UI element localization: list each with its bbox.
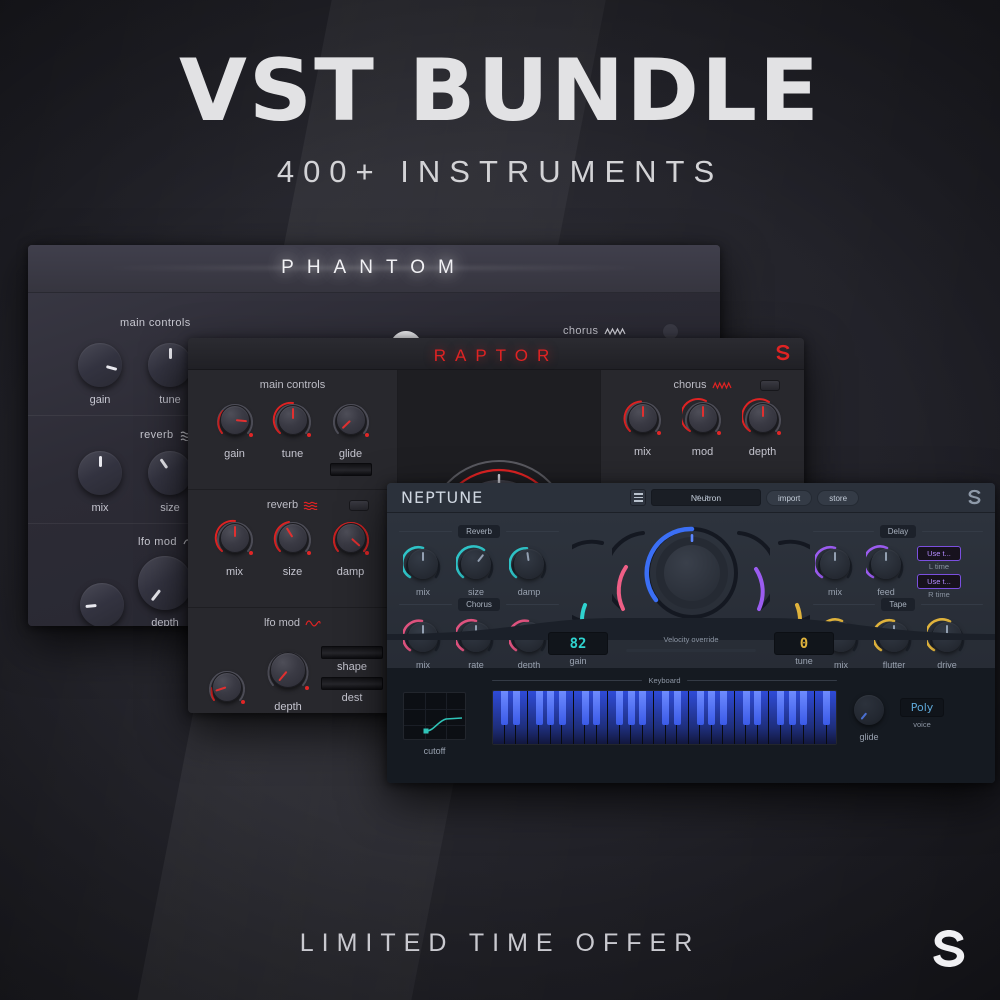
phantom-knob-label: tune (148, 394, 192, 406)
piano-black-key[interactable] (800, 691, 807, 725)
raptor-knob-glide[interactable]: glide (330, 399, 372, 476)
neptune-glide-label: glide (852, 732, 886, 742)
raptor-title: RAPTOR (188, 346, 804, 366)
neptune-velocity-title: Velocity override (626, 635, 756, 644)
piano-black-key[interactable] (789, 691, 796, 725)
raptor-left-column: main controls gain tun (188, 370, 398, 713)
piano-black-key[interactable] (754, 691, 761, 725)
plugin-window-neptune[interactable]: NEPTUNE Neutron < > import store Reverb (387, 483, 995, 783)
neptune-voice-selector[interactable]: Poly voice (900, 698, 944, 729)
raptor-knob-damp[interactable]: damp (330, 517, 372, 578)
piano-black-key[interactable] (559, 691, 566, 725)
neptune-header: NEPTUNE Neutron < > import store (387, 483, 995, 513)
raptor-knob-label: depth (742, 446, 784, 458)
raptor-knob-gain[interactable]: gain (214, 399, 256, 476)
raptor-knob-label: depth (264, 701, 312, 713)
neptune-body: Reverb mix (387, 513, 995, 783)
phantom-knob-label: depth (138, 617, 192, 626)
raptor-knob-size[interactable]: size (272, 517, 314, 578)
neptune-knob-label: size (456, 587, 496, 597)
neptune-cutoff-graph[interactable] (403, 692, 466, 740)
raptor-knob-tune[interactable]: tune (272, 399, 314, 476)
phantom-knob-gain[interactable]: gain (78, 343, 122, 406)
neptune-knob-glide[interactable]: glide (852, 693, 886, 742)
phantom-knob-mix[interactable]: mix (78, 451, 122, 514)
piano-black-key[interactable] (536, 691, 543, 725)
piano-black-key[interactable] (720, 691, 727, 725)
neptune-tag-delay: Delay (880, 525, 916, 538)
piano-black-key[interactable] (582, 691, 589, 725)
neptune-tag-tape: Tape (881, 598, 914, 611)
hamburger-icon[interactable] (630, 489, 646, 506)
zigzag-icon (712, 381, 732, 390)
store-button[interactable]: store (817, 490, 859, 506)
import-button[interactable]: import (766, 490, 812, 506)
raptor-header: RAPTOR (188, 338, 804, 370)
raptor-section-main: main controls gain tun (188, 370, 397, 490)
raptor-button-label: dest (321, 692, 383, 704)
raptor-section-label-main: main controls (188, 370, 397, 391)
neptune-keyboard[interactable] (492, 690, 837, 745)
phantom-knob-label: mix (78, 502, 122, 514)
page-subtitle: 400+ INSTRUMENTS (0, 154, 1000, 190)
s-brand-logo (926, 928, 972, 974)
piano-black-key[interactable] (639, 691, 646, 725)
neptune-title: NEPTUNE (401, 488, 483, 507)
neptune-section-delay: Delay mix (813, 525, 983, 599)
raptor-knob-label: glide (330, 448, 372, 460)
raptor-glide-display[interactable] (330, 463, 372, 476)
neptune-upper-panel: Reverb mix (387, 513, 995, 668)
neptune-velocity-gain-label: gain (548, 656, 608, 666)
neptune-velocity-tune-label: tune (774, 656, 834, 666)
neptune-knob-delay-feed[interactable]: feed (866, 544, 906, 599)
footer-offer-text: LIMITED TIME OFFER (0, 929, 1000, 958)
neptune-ltime-label: L time (917, 562, 961, 571)
neptune-knob-label: mix (403, 587, 443, 597)
phantom-knob-depth[interactable]: depth (138, 556, 192, 626)
raptor-section-label-chorus: chorus (673, 379, 706, 391)
neptune-knob-label: mix (815, 587, 855, 597)
neptune-tag-chorus: Chorus (458, 598, 500, 611)
neptune-knob-delay-mix[interactable]: mix (815, 544, 855, 599)
phantom-knob-rate[interactable]: rate (80, 583, 124, 626)
phantom-section-label-chorus: chorus (563, 325, 598, 337)
promo-headline: VST BUNDLE 400+ INSTRUMENTS (0, 48, 1000, 190)
neptune-knob-reverb-size[interactable]: size (456, 544, 496, 597)
piano-black-key[interactable] (501, 691, 508, 725)
neptune-keyboard-label: Keyboard (648, 676, 680, 685)
raptor-knob-chorus-mix[interactable]: mix (622, 397, 664, 458)
neptune-cutoff-label: cutoff (403, 746, 466, 756)
neptune-lower-panel: cutoff Keyboard glide Poly voice (387, 668, 995, 783)
raptor-knob-label: tune (272, 448, 314, 460)
neptune-rtime-button[interactable]: Use t... (917, 574, 961, 589)
s-brand-logo (774, 344, 792, 362)
phantom-knob-tune[interactable]: tune (148, 343, 192, 406)
preset-selector[interactable]: Neutron < > (651, 489, 761, 506)
neptune-preset-bar: Neutron < > import store (630, 489, 859, 506)
raptor-knob-label: damp (330, 566, 372, 578)
raptor-knob-label: gain (214, 448, 256, 460)
neptune-knob-reverb-mix[interactable]: mix (403, 544, 443, 597)
neptune-knob-label: feed (866, 587, 906, 597)
piano-black-key[interactable] (777, 691, 784, 725)
neptune-voice-value[interactable]: Poly (900, 698, 944, 717)
piano-black-key[interactable] (674, 691, 681, 725)
raptor-knob-chorus-mod[interactable]: mod (682, 397, 724, 458)
raptor-dest-selector[interactable] (321, 677, 383, 690)
piano-black-key[interactable] (697, 691, 704, 725)
s-brand-logo (966, 489, 983, 506)
piano-black-key[interactable] (616, 691, 623, 725)
piano-black-key[interactable] (513, 691, 520, 725)
neptune-ltime-button[interactable]: Use t... (917, 546, 961, 561)
raptor-knob-chorus-depth[interactable]: depth (742, 397, 784, 458)
waves-icon (303, 500, 318, 510)
phantom-knob-label: gain (78, 394, 122, 406)
piano-black-key[interactable] (547, 691, 554, 725)
raptor-section-lfo: lfo mod rate (188, 608, 397, 713)
sine-icon (305, 619, 321, 628)
piano-black-key[interactable] (593, 691, 600, 725)
phantom-title: PHANTOM (28, 257, 720, 279)
phantom-header: PHANTOM (28, 245, 720, 293)
raptor-knob-label: mod (682, 446, 724, 458)
piano-black-key[interactable] (823, 691, 830, 725)
neptune-section-reverb: Reverb mix (399, 525, 559, 597)
neptune-voice-label: voice (900, 720, 944, 729)
piano-black-key[interactable] (708, 691, 715, 725)
raptor-knob-label: mix (622, 446, 664, 458)
neptune-tag-reverb: Reverb (458, 525, 500, 538)
phantom-section-label-lfo: lfo mod (138, 536, 177, 548)
raptor-section-label-lfo: lfo mod (264, 617, 300, 629)
neptune-velocity-row: 82 gain Velocity override 0 tune (387, 632, 995, 668)
raptor-shape-selector[interactable] (321, 646, 383, 659)
piano-black-key[interactable] (662, 691, 669, 725)
prev-next-icon[interactable]: < > (652, 493, 754, 502)
raptor-section-label-reverb: reverb (267, 499, 298, 511)
raptor-knob-label: size (272, 566, 314, 578)
page-title: VST BUNDLE (0, 48, 1000, 134)
neptune-velocity-tune-value[interactable]: 0 (774, 632, 834, 655)
neptune-velocity-slider[interactable] (626, 649, 756, 652)
neptune-velocity-gain-value[interactable]: 82 (548, 632, 608, 655)
raptor-knob-mix[interactable]: mix (214, 517, 256, 578)
raptor-knob-depth[interactable]: depth (264, 646, 312, 713)
raptor-knob-label: mix (214, 566, 256, 578)
piano-black-key[interactable] (743, 691, 750, 725)
phantom-section-label-main: main controls (120, 317, 191, 329)
neptune-knob-label: damp (509, 587, 549, 597)
phantom-knob-label: size (148, 502, 192, 514)
raptor-section-chorus: chorus mix (601, 370, 804, 490)
raptor-section-reverb: reverb mix (188, 490, 397, 608)
raptor-chorus-toggle[interactable] (760, 380, 780, 391)
phantom-knob-size[interactable]: size (148, 451, 192, 514)
raptor-knob-rate[interactable]: rate (206, 666, 248, 713)
neptune-knob-reverb-damp[interactable]: damp (509, 544, 549, 597)
raptor-reverb-toggle[interactable] (349, 500, 369, 511)
phantom-section-label-reverb: reverb (140, 429, 174, 441)
piano-black-key[interactable] (628, 691, 635, 725)
raptor-button-label: shape (321, 661, 383, 673)
zigzag-icon (604, 327, 626, 336)
